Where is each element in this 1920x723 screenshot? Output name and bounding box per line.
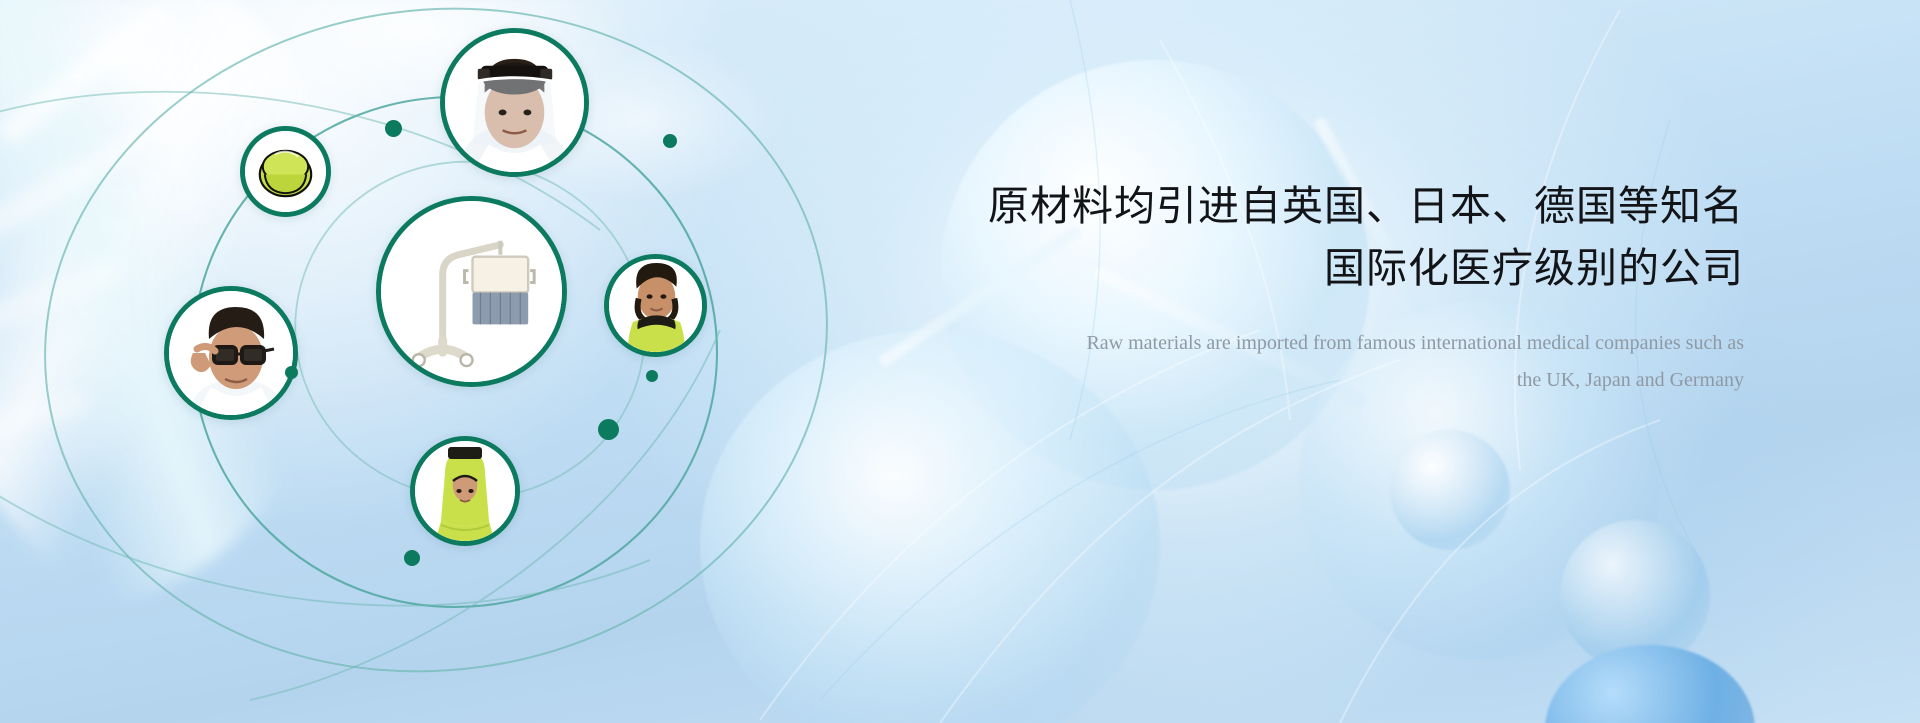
mobile-x-ray-barrier-photo — [381, 201, 562, 382]
subtitle: Raw materials are imported from famous i… — [984, 325, 1744, 399]
bubble-protective-hood-portrait[interactable] — [410, 436, 520, 546]
orbit-dot-5 — [598, 419, 619, 440]
bubble-mobile-x-ray-barrier-product[interactable] — [376, 196, 567, 387]
bubble-lead-cap-product[interactable] — [240, 126, 331, 217]
orbit-dot-1 — [385, 120, 402, 137]
orbit-dot-3 — [285, 366, 298, 379]
bubble-lead-glasses-portrait[interactable] — [164, 286, 298, 420]
orbit-dot-4 — [646, 370, 658, 382]
headline-line-1: 原材料均引进自英国、日本、德国等知名 — [988, 183, 1744, 229]
lead-cap-photo — [245, 131, 326, 212]
orbit-dot-2 — [663, 134, 677, 148]
banner-copy: 原材料均引进自英国、日本、德国等知名 国际化医疗级别的公司 Raw materi… — [984, 176, 1744, 399]
thyroid-collar-photo — [609, 259, 702, 352]
radiation-face-shield-photo — [445, 33, 584, 172]
lead-glasses-photo — [169, 291, 293, 415]
protective-hood-photo — [415, 441, 515, 541]
bubble-radiation-face-shield-portrait[interactable] — [440, 28, 589, 177]
subtitle-line-1: Raw materials are imported from famous i… — [1086, 332, 1744, 354]
bubble-thyroid-collar-portrait[interactable] — [604, 254, 707, 357]
banner-stage: 原材料均引进自英国、日本、德国等知名 国际化医疗级别的公司 Raw materi… — [0, 0, 1920, 723]
orbit-dot-6 — [404, 550, 420, 566]
headline: 原材料均引进自英国、日本、德国等知名 国际化医疗级别的公司 — [984, 176, 1744, 299]
headline-line-2: 国际化医疗级别的公司 — [984, 238, 1744, 300]
subtitle-line-2: the UK, Japan and Germany — [984, 362, 1744, 399]
